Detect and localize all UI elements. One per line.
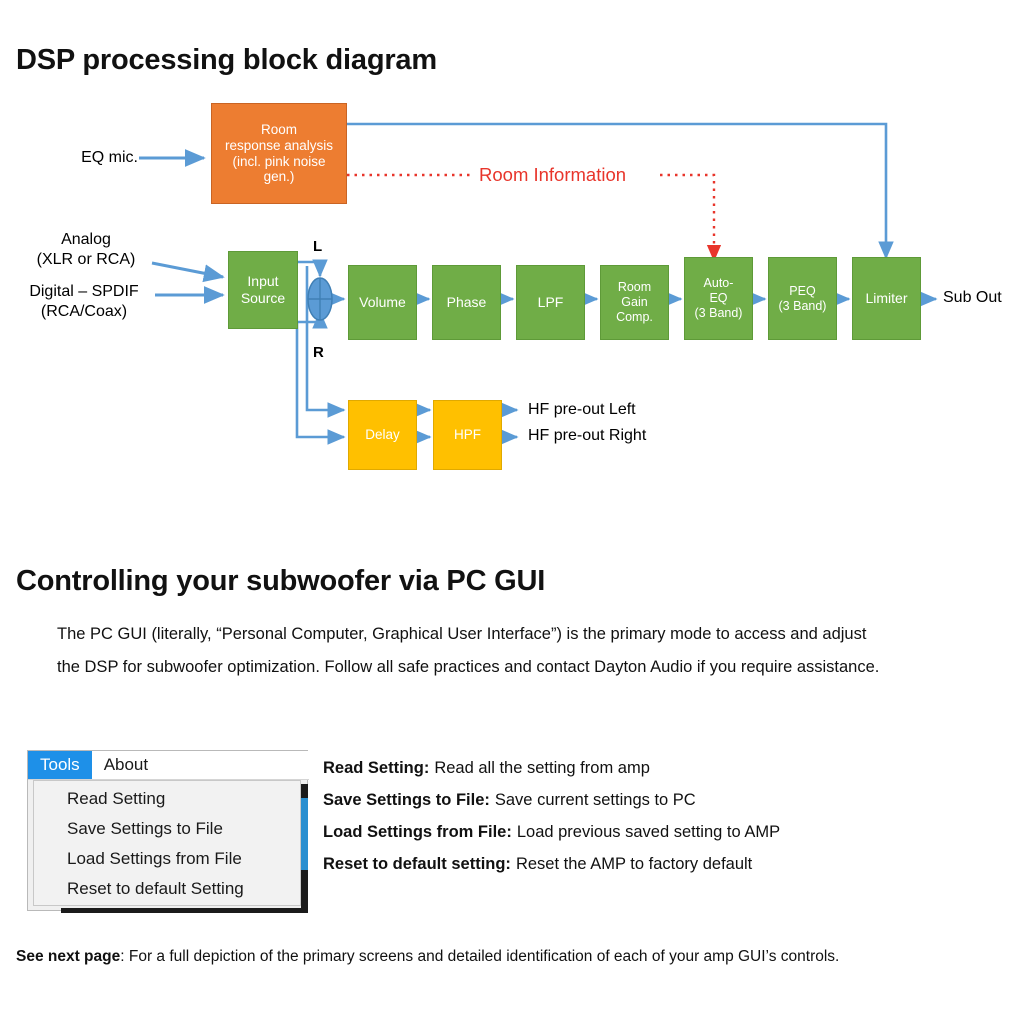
input-source-line-1: Input <box>241 273 285 290</box>
label-channel-right: R <box>313 344 324 361</box>
description-term: Read Setting: <box>323 760 429 777</box>
menu-item-reset-to-default-setting[interactable]: Reset to default Setting <box>34 874 300 904</box>
tools-menu-window[interactable]: Tools About Read Setting Save Settings t… <box>27 750 308 911</box>
footer-note-bold: See next page <box>16 948 120 965</box>
menu-item-save-settings-to-file[interactable]: Save Settings to File <box>34 814 300 844</box>
label-hf-pre-out-left: HF pre-out Left <box>528 400 748 420</box>
menu-bar-item-tools[interactable]: Tools <box>28 751 92 779</box>
room-response-line-2: response analysis <box>225 138 333 154</box>
description-text: Reset the AMP to factory default <box>516 856 752 873</box>
label-analog-line-2: (XLR or RCA) <box>22 250 150 270</box>
dropdown-shadow-bottom <box>61 908 308 913</box>
dropdown-scrollbar-accent <box>301 798 308 870</box>
description-text: Save current settings to PC <box>495 792 696 809</box>
label-channel-left: L <box>313 238 322 255</box>
label-room-information: Room Information <box>479 164 626 186</box>
description-text: Load previous saved setting to AMP <box>517 824 780 841</box>
auto-eq-line-1: Auto- <box>695 276 743 291</box>
menu-bar-item-about[interactable]: About <box>92 751 160 779</box>
gui-intro-paragraph: The PC GUI (literally, “Personal Compute… <box>57 618 887 684</box>
label-analog-line-1: Analog <box>22 230 150 250</box>
block-limiter: Limiter <box>852 257 921 340</box>
label-digital-line-2: (RCA/Coax) <box>14 302 154 322</box>
description-row: Save Settings to File: Save current sett… <box>323 784 1013 816</box>
room-response-line-1: Room <box>225 122 333 138</box>
description-term: Load Settings from File: <box>323 824 512 841</box>
description-term: Reset to default setting: <box>323 856 511 873</box>
label-eq-mic: EQ mic. <box>18 148 138 168</box>
block-input-source: Input Source <box>228 251 298 329</box>
document-page: DSP processing block diagram <box>0 0 1024 1024</box>
block-phase: Phase <box>432 265 501 340</box>
room-response-line-3: (incl. pink noise <box>225 154 333 170</box>
label-sub-out: Sub Out <box>943 288 1024 308</box>
dsp-block-diagram: Room response analysis (incl. pink noise… <box>0 90 1024 510</box>
block-hpf: HPF <box>433 400 502 470</box>
description-row: Reset to default setting: Reset the AMP … <box>323 848 1013 880</box>
room-gain-line-3: Comp. <box>616 310 653 325</box>
summing-node-icon <box>308 278 332 320</box>
description-text: Read all the setting from amp <box>434 760 650 777</box>
room-gain-line-2: Gain <box>616 295 653 310</box>
menu-item-load-settings-from-file[interactable]: Load Settings from File <box>34 844 300 874</box>
label-digital-input: Digital – SPDIF (RCA/Coax) <box>14 282 154 323</box>
room-gain-line-1: Room <box>616 280 653 295</box>
description-term: Save Settings to File: <box>323 792 490 809</box>
peq-line-2: (3 Band) <box>779 299 827 314</box>
block-peq: PEQ (3 Band) <box>768 257 837 340</box>
page-title-gui: Controlling your subwoofer via PC GUI <box>16 565 545 598</box>
block-room-response-analysis: Room response analysis (incl. pink noise… <box>211 103 347 204</box>
page-title-diagram: DSP processing block diagram <box>16 44 437 77</box>
auto-eq-line-2: EQ <box>695 291 743 306</box>
menu-descriptions: Read Setting: Read all the setting from … <box>323 752 1013 880</box>
label-analog-input: Analog (XLR or RCA) <box>22 230 150 271</box>
label-digital-line-1: Digital – SPDIF <box>14 282 154 302</box>
tools-dropdown-menu: Read Setting Save Settings to File Load … <box>33 780 301 906</box>
label-hf-pre-out-right: HF pre-out Right <box>528 426 758 446</box>
menu-bar: Tools About <box>28 751 309 780</box>
auto-eq-line-3: (3 Band) <box>695 306 743 321</box>
block-auto-eq: Auto- EQ (3 Band) <box>684 257 753 340</box>
block-volume: Volume <box>348 265 417 340</box>
footer-note: See next page: For a full depiction of t… <box>16 948 1016 966</box>
footer-note-rest: : For a full depiction of the primary sc… <box>120 948 839 965</box>
input-source-line-2: Source <box>241 290 285 307</box>
peq-line-1: PEQ <box>779 284 827 299</box>
block-room-gain-comp: Room Gain Comp. <box>600 265 669 340</box>
block-delay: Delay <box>348 400 417 470</box>
description-row: Load Settings from File: Load previous s… <box>323 816 1013 848</box>
description-row: Read Setting: Read all the setting from … <box>323 752 1013 784</box>
room-response-line-4: gen.) <box>225 169 333 185</box>
block-lpf: LPF <box>516 265 585 340</box>
menu-item-read-setting[interactable]: Read Setting <box>34 784 300 814</box>
